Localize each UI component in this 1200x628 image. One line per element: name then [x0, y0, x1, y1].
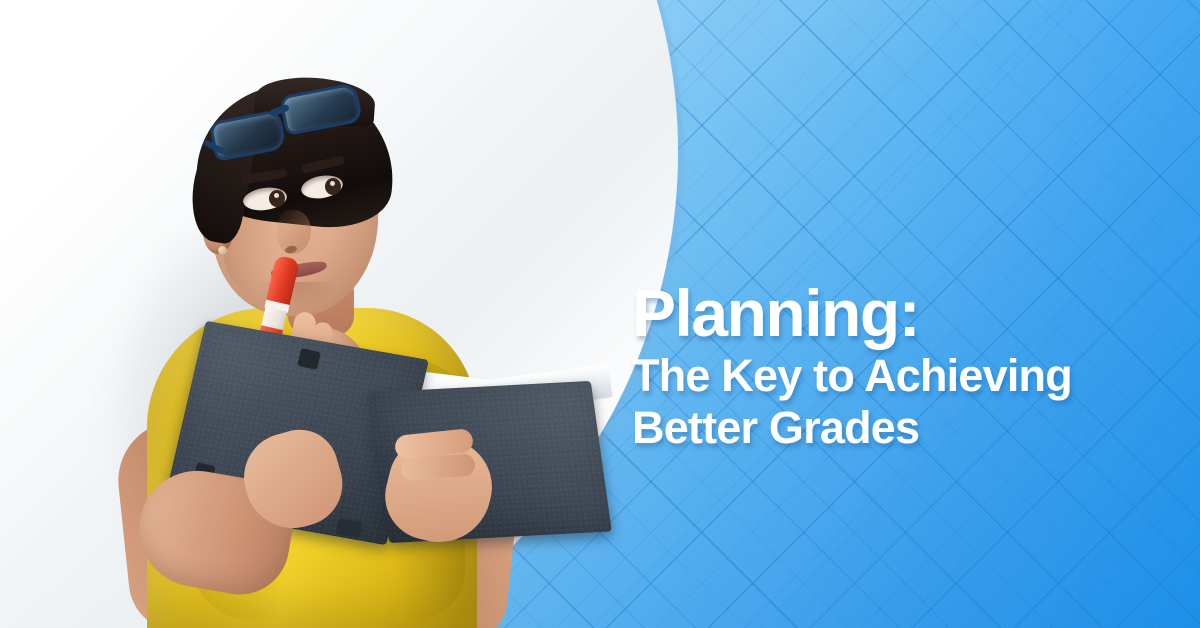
headline-line-3: Better Grades	[632, 402, 1172, 454]
hero-banner: Planning: The Key to Achieving Better Gr…	[0, 0, 1200, 628]
headline-line-1: Planning:	[632, 276, 1172, 350]
eye-glint-left	[274, 193, 279, 198]
student-photo	[95, 60, 615, 628]
earring	[218, 246, 227, 255]
eye-glint-right	[330, 181, 335, 186]
headline-block: Planning: The Key to Achieving Better Gr…	[632, 276, 1172, 454]
headline-line-2: The Key to Achieving	[632, 350, 1172, 402]
